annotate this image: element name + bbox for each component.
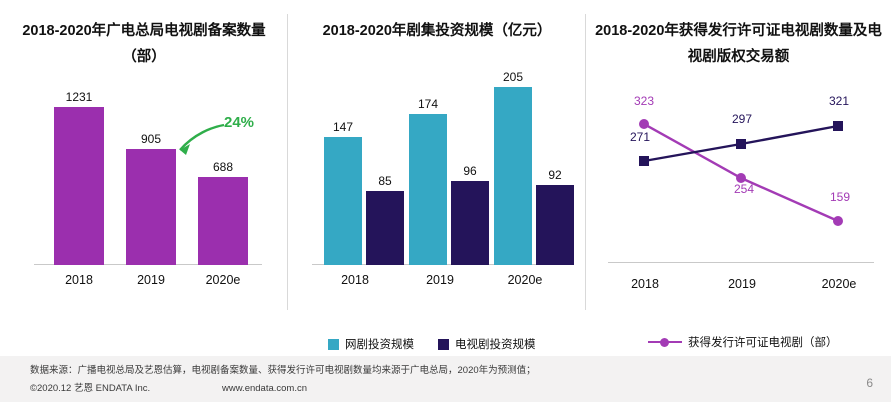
bar-tv-2019 xyxy=(451,181,489,265)
legend-marker-license xyxy=(660,338,669,347)
legend-line-license xyxy=(648,341,682,343)
x-label-2019: 2019 xyxy=(116,273,186,287)
bar-value-web-2020e: 205 xyxy=(485,70,541,84)
legend-label-license: 获得发行许可证电视剧（部） xyxy=(688,334,838,350)
legend-label-web: 网剧投资规模 xyxy=(345,336,414,352)
x-label-2018: 2018 xyxy=(312,273,398,287)
bar-2018 xyxy=(54,107,104,265)
line-series-license xyxy=(644,124,838,221)
x-label-2020e: 2020e xyxy=(482,273,568,287)
x-label-2018: 2018 xyxy=(610,277,680,291)
point-copyright-2018 xyxy=(639,156,649,166)
panel-drama-investment: 2018-2020年剧集投资规模（亿元） 147 85 174 96 205 9… xyxy=(288,0,586,402)
bar-tv-2020e xyxy=(536,185,574,265)
value-copyright-2019: 297 xyxy=(732,112,752,126)
website-link[interactable]: www.endata.com.cn xyxy=(222,383,307,394)
bar-tv-2018 xyxy=(366,191,404,265)
value-license-2018: 323 xyxy=(634,94,654,108)
panel-3-title: 2018-2020年获得发行许可证电视剧数量及电视剧版权交易额 xyxy=(594,18,883,70)
chart-1-plot: 1231 905 688 2018 2019 2020e 24% xyxy=(34,92,262,287)
copyright-note: ©2020.12 艺恩 ENDATA Inc. xyxy=(30,380,150,394)
bar-value-tv-2019: 96 xyxy=(442,164,498,178)
x-label-2020e: 2020e xyxy=(188,273,258,287)
panel-2-title: 2018-2020年剧集投资规模（亿元） xyxy=(296,18,578,44)
chart-2-plot: 147 85 174 96 205 92 2018 2019 2020e xyxy=(312,92,574,287)
point-license-2018 xyxy=(639,119,649,129)
bar-2019 xyxy=(126,149,176,265)
legend-label-tv: 电视剧投资规模 xyxy=(455,336,536,352)
point-license-2020e xyxy=(833,216,843,226)
legend-item-license: 获得发行许可证电视剧（部） xyxy=(648,334,838,350)
legend-item-web-investment: 网剧投资规模 xyxy=(328,336,414,352)
value-copyright-2018: 271 xyxy=(630,130,650,144)
bar-web-2018 xyxy=(324,137,362,265)
bar-web-2019 xyxy=(409,114,447,265)
bar-value-web-2019: 174 xyxy=(400,97,456,111)
x-label-2018: 2018 xyxy=(44,273,114,287)
value-copyright-2020e: 321 xyxy=(829,94,849,108)
panel-1-title: 2018-2020年广电总局电视剧备案数量（部） xyxy=(8,18,280,70)
x-label-2020e: 2020e xyxy=(804,277,874,291)
chart-2-legend: 网剧投资规模 电视剧投资规模 xyxy=(328,336,536,352)
legend-item-tv-investment: 电视剧投资规模 xyxy=(438,336,536,352)
panel-license-and-copyright: 2018-2020年获得发行许可证电视剧数量及电视剧版权交易额 323 254 … xyxy=(586,0,891,402)
chart-3-plot: 323 254 159 271 297 321 2018 2019 2020e xyxy=(608,86,874,291)
bar-value-2020e: 688 xyxy=(188,160,258,174)
bar-2020e xyxy=(198,177,248,265)
value-license-2020e: 159 xyxy=(830,190,850,204)
bar-value-tv-2020e: 92 xyxy=(527,168,583,182)
x-label-2019: 2019 xyxy=(707,277,777,291)
legend-swatch-web xyxy=(328,339,339,350)
point-copyright-2020e xyxy=(833,121,843,131)
source-note: 数据来源：广播电视总局及艺恩估算，电视剧备案数量、获得发行许可电视剧数量均来源于… xyxy=(30,364,536,378)
panel-tv-drama-filings: 2018-2020年广电总局电视剧备案数量（部） 1231 905 688 20… xyxy=(0,0,288,402)
bar-value-2018: 1231 xyxy=(44,90,114,104)
x-label-2019: 2019 xyxy=(397,273,483,287)
bar-value-web-2018: 147 xyxy=(315,120,371,134)
value-license-2019: 254 xyxy=(734,182,754,196)
legend-swatch-tv xyxy=(438,339,449,350)
point-copyright-2019 xyxy=(736,139,746,149)
growth-label: 24% xyxy=(224,114,254,131)
bar-value-2019: 905 xyxy=(116,132,186,146)
page-number: 6 xyxy=(866,376,873,390)
bar-value-tv-2018: 85 xyxy=(357,174,413,188)
footer-bar xyxy=(0,356,891,402)
